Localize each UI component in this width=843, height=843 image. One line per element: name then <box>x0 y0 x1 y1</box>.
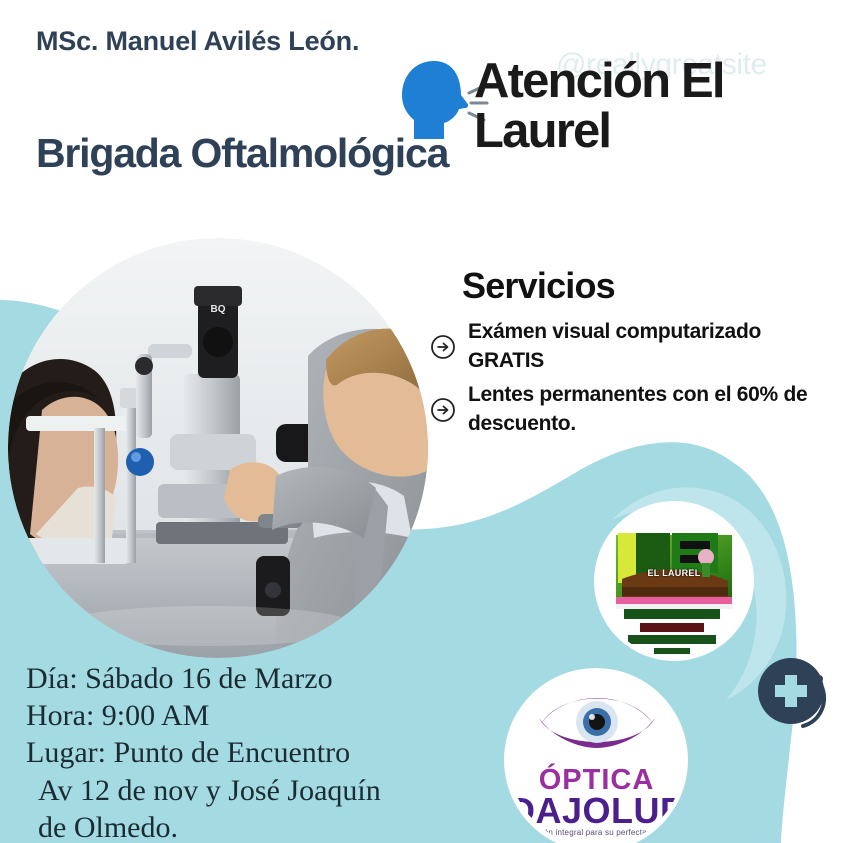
el-laurel-badge: EL LAUREL <box>598 505 750 657</box>
services-list: Exámen visual computarizado GRATIS Lente… <box>430 318 830 444</box>
event-address-2: de Olmedo. <box>26 809 526 843</box>
circle-arrow-right-icon <box>430 397 456 423</box>
event-place: Lugar: Punto de Encuentro <box>26 734 526 771</box>
services-heading: Servicios <box>462 265 615 307</box>
list-item: Lentes permanentes con el 60% de descuen… <box>430 381 830 438</box>
event-details: Día: Sábado 16 de Marzo Hora: 9:00 AM Lu… <box>26 660 526 843</box>
event-day: Día: Sábado 16 de Marzo <box>26 660 526 697</box>
svg-text:BQ: BQ <box>211 304 226 315</box>
service-item-text: Exámen visual computarizado GRATIS <box>468 318 830 375</box>
list-item: Exámen visual computarizado GRATIS <box>430 318 830 375</box>
optica-line-2: DAJOLUP <box>509 790 684 832</box>
poster-canvas: MSc. Manuel Avilés León. Brigada Oftalmo… <box>0 0 843 843</box>
circle-arrow-right-icon <box>430 334 456 360</box>
presenter-name: MSc. Manuel Avilés León. <box>36 26 386 56</box>
service-item-text: Lentes permanentes con el 60% de descuen… <box>468 381 830 438</box>
eye-icon <box>535 684 659 760</box>
event-time: Hora: 9:00 AM <box>26 697 526 734</box>
optica-dajolup-logo: ÓPTICA DAJOLUP solución integral para su… <box>509 672 684 843</box>
laurel-badge-label: EL LAUREL <box>598 568 750 578</box>
eye-exam-photo: BQ <box>8 238 428 658</box>
attention-title: Atención El Laurel <box>474 56 843 157</box>
optica-tagline: solución integral para su perfecta visió… <box>509 828 684 837</box>
event-address-1: Av 12 de nov y José Joaquín <box>26 772 526 809</box>
medical-plus-badge <box>755 655 831 731</box>
